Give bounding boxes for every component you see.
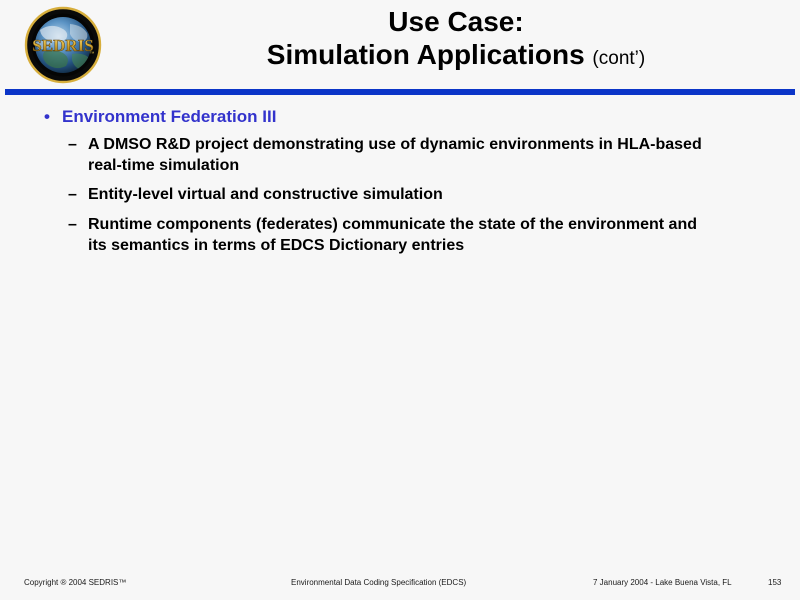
- footer-copyright: Copyright ® 2004 SEDRIS™: [24, 578, 126, 587]
- dash-glyph-icon: –: [68, 215, 77, 236]
- sub-bullet-item: – Runtime components (federates) communi…: [0, 215, 800, 257]
- dash-glyph-icon: –: [68, 185, 77, 206]
- slide-title: Use Case: Simulation Applications (cont’…: [120, 5, 792, 71]
- slide-title-main: Simulation Applications: [267, 39, 585, 70]
- presentation-slide: SEDRIS ™ Use Case: Simulation Applicatio…: [0, 0, 800, 600]
- title-divider-bar: [5, 89, 795, 95]
- sub-bullet-text: A DMSO R&D project demonstrating use of …: [88, 136, 702, 174]
- logo-trademark: ™: [90, 51, 95, 57]
- slide-title-continuation: (cont’): [592, 48, 645, 69]
- sedris-globe-logo: SEDRIS ™: [16, 6, 110, 84]
- slide-title-line-1: Use Case:: [120, 5, 792, 38]
- slide-footer: Copyright ® 2004 SEDRIS™ Environmental D…: [0, 578, 800, 594]
- sub-bullet-text: Runtime components (federates) communica…: [88, 216, 697, 254]
- sub-bullet-item: – A DMSO R&D project demonstrating use o…: [0, 135, 800, 177]
- footer-event-info: 7 January 2004 - Lake Buena Vista, FL: [593, 578, 732, 587]
- sedris-globe-icon: SEDRIS ™: [16, 6, 110, 84]
- sub-bullet-item: – Entity-level virtual and constructive …: [0, 185, 800, 206]
- bullet-item-label: Environment Federation III: [62, 107, 276, 126]
- logo-wordmark: SEDRIS: [32, 36, 93, 55]
- footer-document-title: Environmental Data Coding Specification …: [291, 578, 466, 587]
- bullet-glyph-icon: •: [44, 106, 50, 128]
- dash-glyph-icon: –: [68, 135, 77, 156]
- sub-bullet-text: Entity-level virtual and constructive si…: [88, 186, 443, 203]
- bullet-item: • Environment Federation III: [0, 106, 800, 128]
- sub-bullet-list: – A DMSO R&D project demonstrating use o…: [0, 135, 800, 257]
- slide-title-line-2: Simulation Applications (cont’): [120, 38, 792, 71]
- footer-page-number: 153: [768, 578, 781, 587]
- slide-body: • Environment Federation III – A DMSO R&…: [0, 106, 800, 266]
